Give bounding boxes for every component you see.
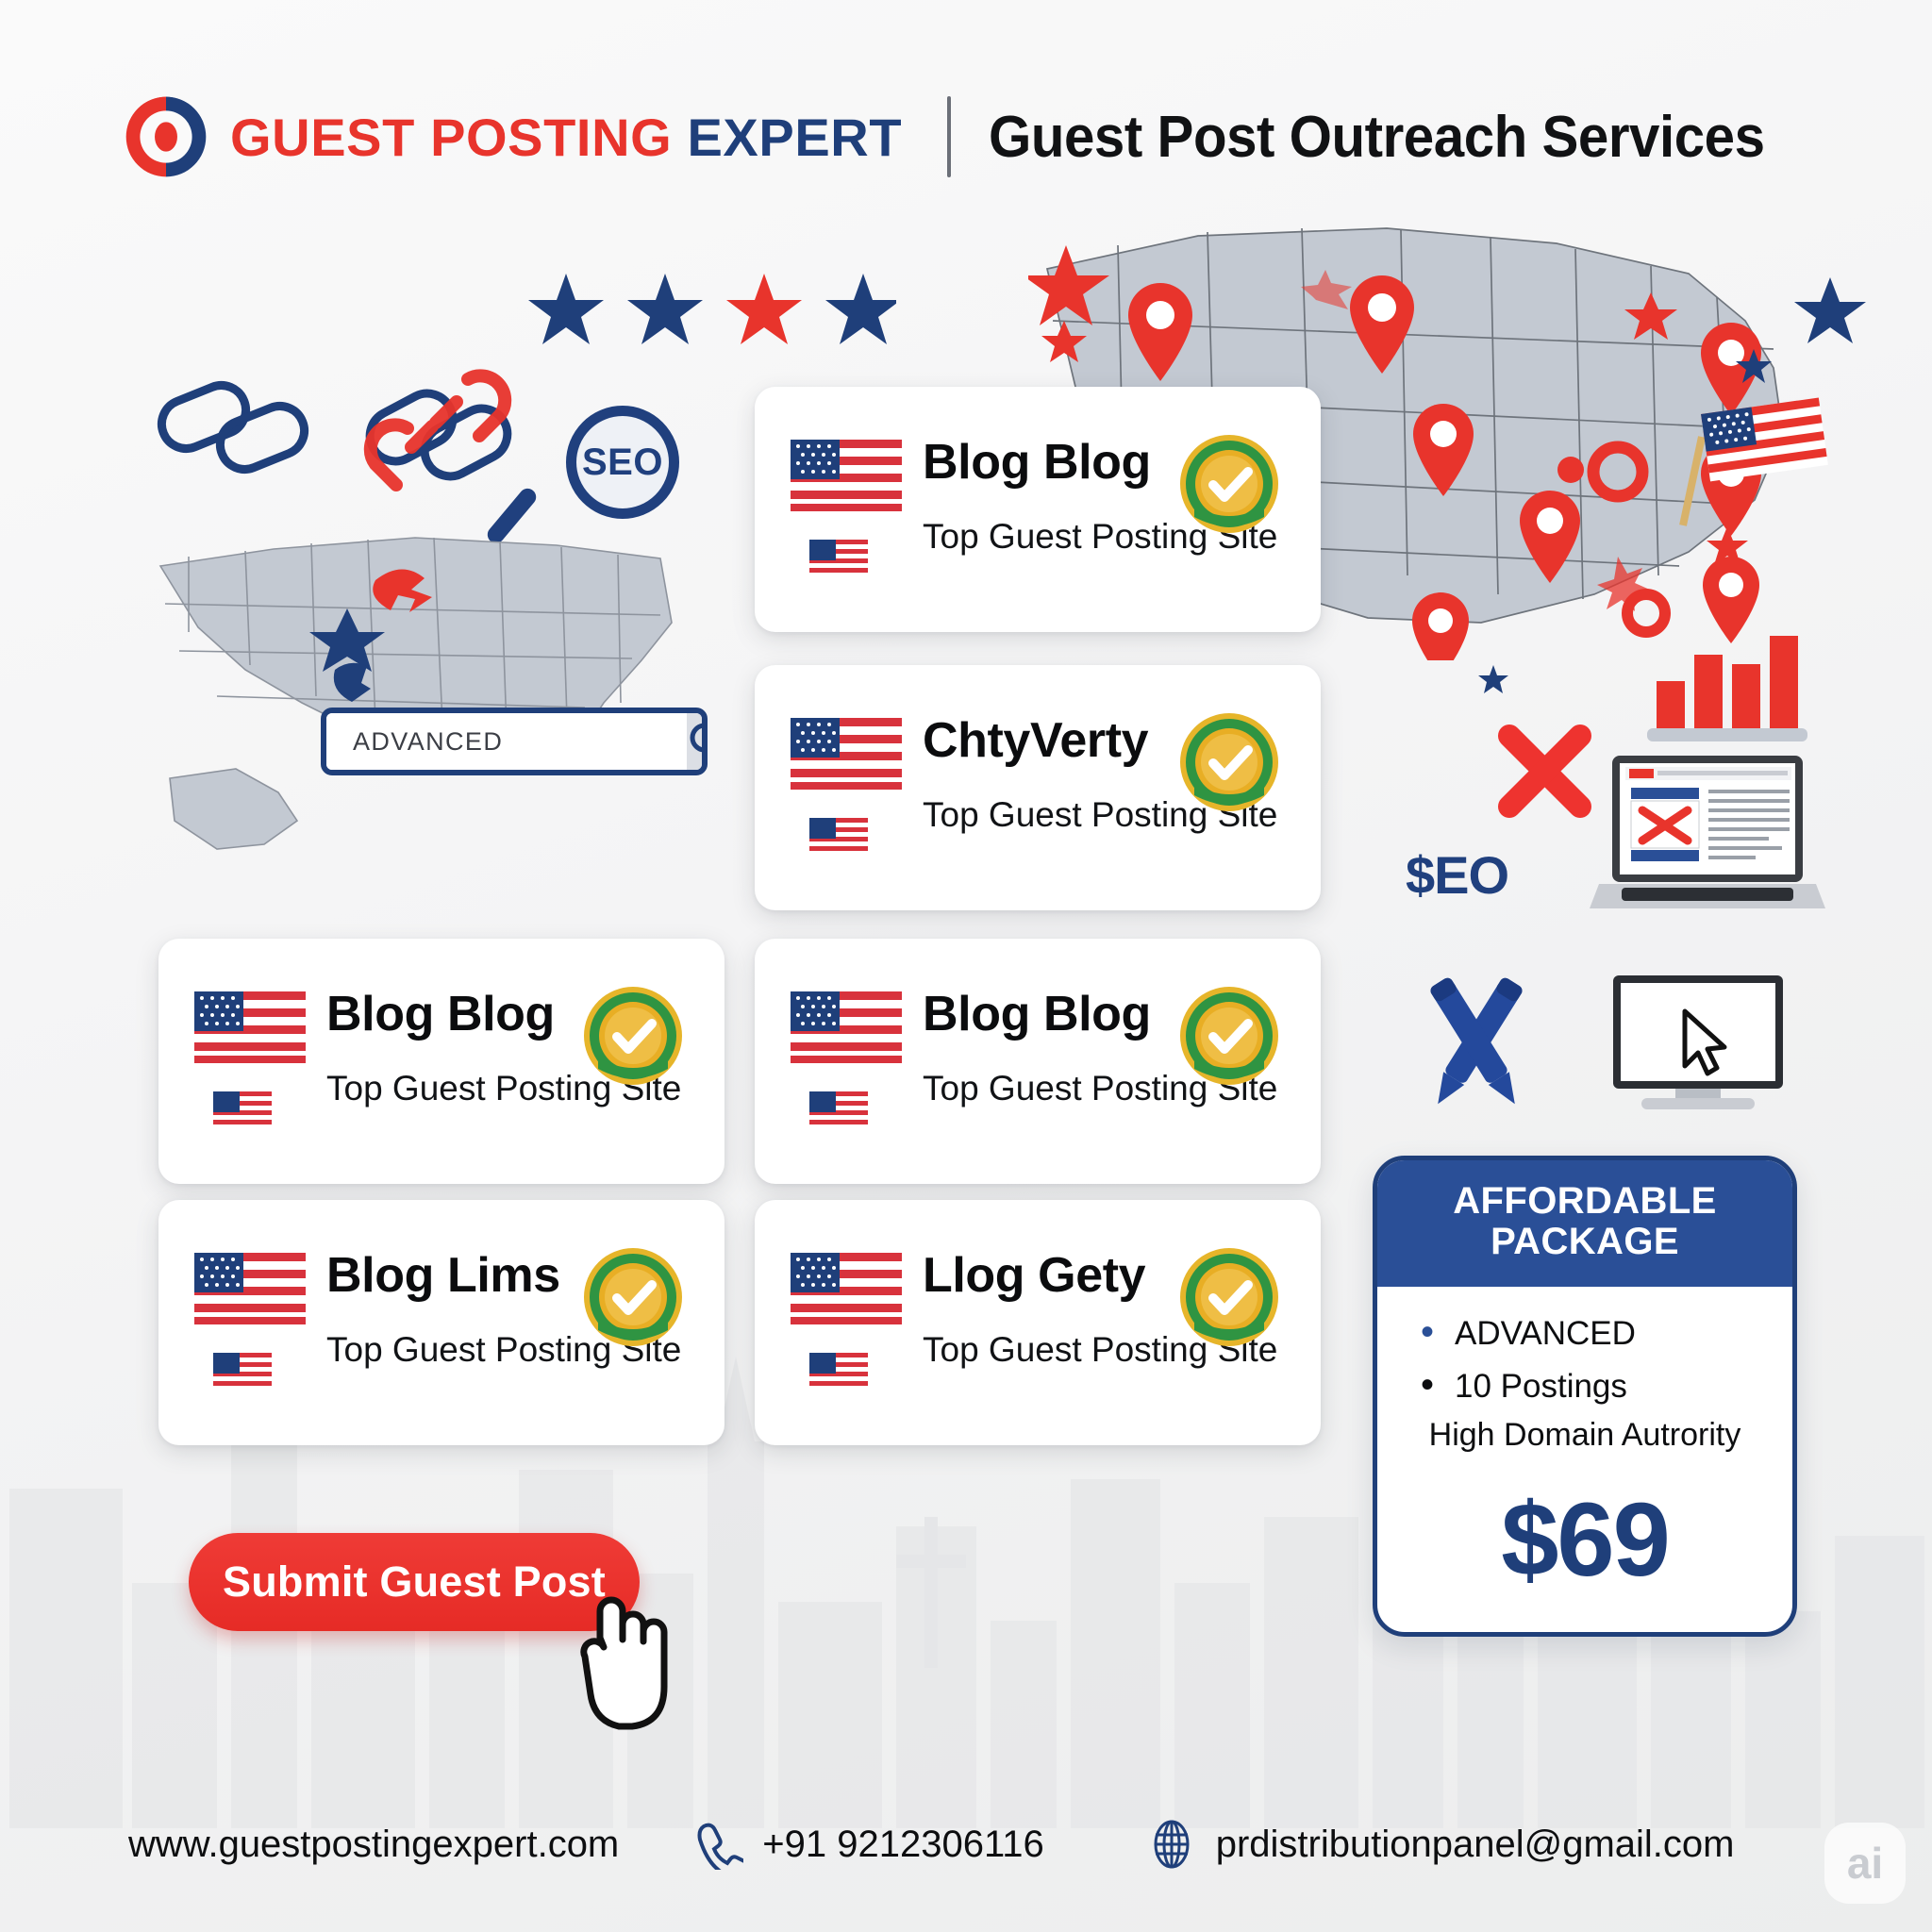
pricing-amount: $69: [1398, 1480, 1772, 1600]
red-star-decoration: [1706, 525, 1749, 568]
globe-icon: [1146, 1819, 1197, 1870]
footer-website-text: www.guestpostingexpert.com: [128, 1824, 619, 1866]
logo-text-secondary: EXPERT: [687, 108, 902, 167]
monitor-cursor-icon: [1604, 972, 1792, 1118]
site-card-title: Blog Lims: [326, 1247, 560, 1304]
usa-flag-icon: [194, 991, 306, 1063]
laptop-browser-error-icon: [1590, 750, 1825, 929]
verified-badge-icon: [1177, 710, 1281, 814]
site-card[interactable]: Blog Blog Top Guest Posting Site: [755, 387, 1321, 632]
chain-link-icon: [349, 358, 528, 509]
site-card[interactable]: Blog Blog Top Guest Posting Site: [755, 939, 1321, 1184]
footer-email[interactable]: prdistributionpanel@gmail.com: [1146, 1819, 1735, 1870]
site-card-title: ChtyVerty: [923, 712, 1148, 769]
footer-website[interactable]: www.guestpostingexpert.com: [128, 1824, 619, 1866]
site-card-title: Blog Blog: [923, 434, 1151, 491]
pricing-note: High Domain Autrority: [1398, 1417, 1772, 1454]
pricing-head-line2: PACKAGE: [1387, 1222, 1783, 1262]
usa-flag-small-icon: [809, 818, 868, 856]
search-button[interactable]: [687, 713, 708, 770]
chain-link-icon: [151, 358, 321, 500]
site-card[interactable]: Blog Lims Top Guest Posting Site: [158, 1200, 724, 1445]
red-cross-icon: [1491, 717, 1599, 825]
usa-map-left: [132, 509, 717, 887]
ai-watermark: ai: [1824, 1823, 1906, 1904]
pricing-feature-list: ADVANCED 10 Postings: [1398, 1315, 1772, 1406]
search-icon: [687, 720, 708, 763]
seo-magnifier-label: SEO: [582, 441, 663, 484]
site-card[interactable]: Llog Gety Top Guest Posting Site: [755, 1200, 1321, 1445]
footer-email-text: prdistributionpanel@gmail.com: [1216, 1824, 1735, 1866]
crossed-pens-icon: [1406, 962, 1547, 1123]
pricing-card-body: ADVANCED 10 Postings High Domain Autrori…: [1377, 1287, 1792, 1600]
usa-flag-icon: [194, 1253, 306, 1324]
logo-wordmark: GUEST POSTING EXPERT: [230, 107, 902, 168]
search-input[interactable]: [326, 713, 687, 770]
hand-cursor-icon: [574, 1583, 677, 1734]
pricing-feature-item: ADVANCED: [1455, 1315, 1772, 1353]
usa-flag-small-icon: [809, 1091, 868, 1129]
site-card-title: Blog Blog: [326, 986, 555, 1042]
usa-flag-small-icon: [213, 1353, 272, 1391]
pricing-card-header: AFFORDABLE PACKAGE: [1377, 1160, 1792, 1287]
submit-guest-post-button[interactable]: Submit Guest Post: [189, 1533, 640, 1631]
rating-stars-row: [528, 274, 896, 349]
pricing-head-line1: AFFORDABLE: [1387, 1181, 1783, 1222]
navy-star-decoration-tiny: [1477, 664, 1509, 696]
usa-flag-icon: [791, 991, 902, 1063]
usa-flag-icon: [791, 1253, 902, 1324]
verified-badge-icon: [1177, 984, 1281, 1088]
pricing-feature-item: 10 Postings: [1455, 1368, 1772, 1406]
logo-text-primary: GUEST POSTING: [230, 108, 672, 167]
footer-contact-bar: www.guestpostingexpert.com +91 921230611…: [0, 1802, 1932, 1887]
navy-star-decoration: [1792, 274, 1868, 349]
usa-flag-small-icon: [809, 540, 868, 577]
verified-badge-icon: [1177, 432, 1281, 536]
alaska-shape: [170, 769, 297, 849]
footer-phone-text: +91 9212306116: [762, 1824, 1043, 1866]
donut-target-logo-icon: [123, 93, 209, 180]
site-card-title: Blog Blog: [923, 986, 1151, 1042]
verified-badge-icon: [581, 984, 685, 1088]
site-card[interactable]: Blog Blog Top Guest Posting Site: [158, 939, 724, 1184]
seo-magnifier-icon: SEO: [566, 406, 679, 519]
site-card[interactable]: ChtyVerty Top Guest Posting Site: [755, 665, 1321, 910]
advanced-search-bar[interactable]: [321, 708, 708, 775]
header-divider: [947, 96, 951, 177]
usa-flag-icon: [791, 718, 902, 790]
usa-flag-small-icon: [213, 1091, 272, 1129]
pricing-card[interactable]: AFFORDABLE PACKAGE ADVANCED 10 Postings …: [1373, 1156, 1797, 1637]
seo-text-label: $EO: [1406, 844, 1508, 906]
verified-badge-icon: [581, 1245, 685, 1349]
usa-flag-icon: [791, 440, 902, 511]
site-card-title: Llog Gety: [923, 1247, 1145, 1304]
navy-star-decoration-small: [1734, 347, 1774, 387]
red-bar-chart-icon: [1641, 623, 1811, 745]
usa-flag-on-pole-icon: [1679, 377, 1849, 528]
usa-flag-small-icon: [809, 1353, 868, 1391]
footer-phone[interactable]: +91 9212306116: [692, 1819, 1043, 1870]
page-title: Guest Post Outreach Services: [989, 104, 1765, 171]
page-header: GUEST POSTING EXPERT Guest Post Outreach…: [0, 85, 1932, 189]
phone-icon: [692, 1819, 743, 1870]
verified-badge-icon: [1177, 1245, 1281, 1349]
